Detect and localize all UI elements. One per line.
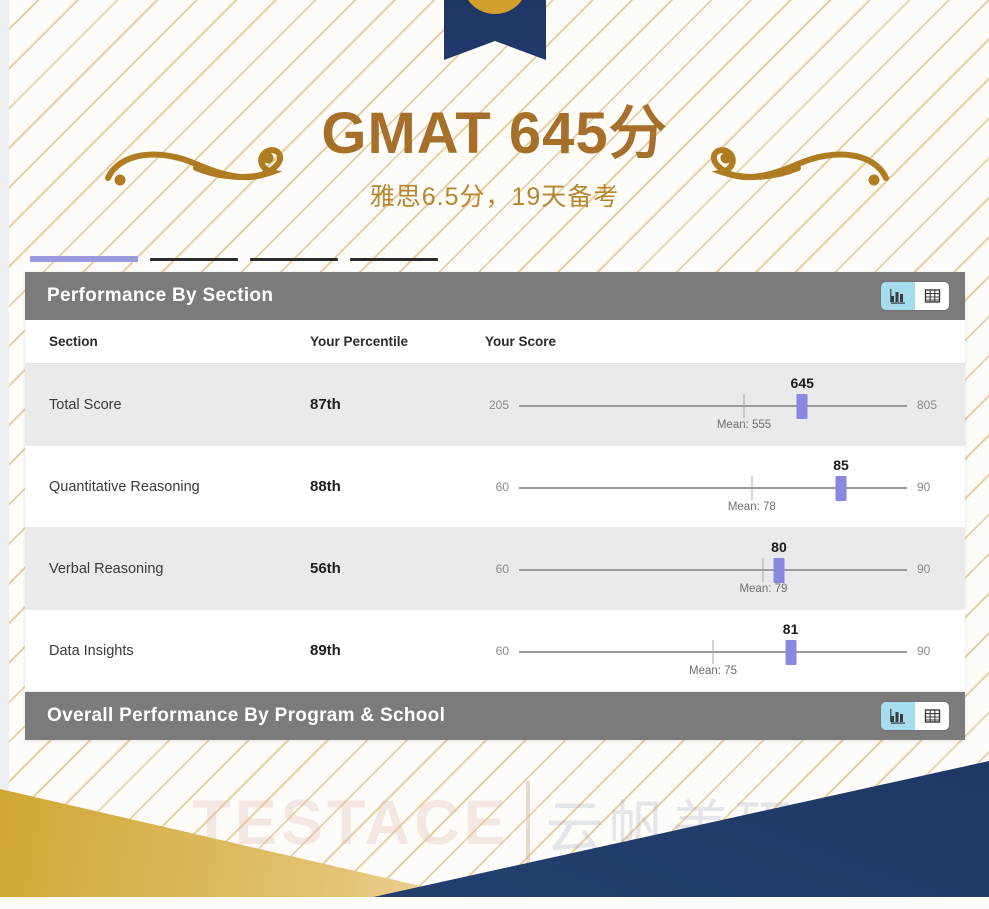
score-marker [773, 558, 784, 583]
score-slider: 205 Mean: 555 645 805 [485, 364, 965, 445]
mean-label: Mean: 78 [728, 501, 776, 513]
performance-by-section-header: Performance By Section [25, 272, 965, 320]
slider-track-box: Mean: 78 85 [519, 460, 907, 514]
axis-max-label: 90 [907, 562, 941, 576]
score-value: 85 [833, 457, 849, 473]
mean-label: Mean: 79 [739, 583, 787, 595]
slider-track-box: Mean: 555 645 [519, 378, 907, 432]
table-row: Verbal Reasoning 56th 60 Mean: 79 80 90 [25, 528, 965, 610]
table-column-headers: Section Your Percentile Your Score [25, 320, 965, 364]
tab-indicator-3[interactable] [250, 258, 338, 261]
column-header-percentile: Your Percentile [310, 334, 485, 349]
slider-track [519, 405, 907, 407]
mean-tick [713, 640, 714, 664]
mean-label: Mean: 75 [689, 665, 737, 677]
slider-track-box: Mean: 75 81 [519, 624, 907, 678]
table-row: Quantitative Reasoning 88th 60 Mean: 78 … [25, 446, 965, 528]
slider-track-box: Mean: 79 80 [519, 542, 907, 596]
table-view-icon[interactable] [915, 702, 949, 730]
table-row: Total Score 87th 205 Mean: 555 645 805 [25, 364, 965, 446]
mean-label: Mean: 555 [717, 419, 771, 431]
tab-strip[interactable] [30, 256, 438, 262]
mean-tick [763, 558, 764, 582]
row-section-name: Verbal Reasoning [25, 561, 310, 577]
overall-performance-title: Overall Performance By Program & School [47, 705, 881, 727]
performance-by-section-title: Performance By Section [47, 285, 881, 307]
table-view-icon[interactable] [915, 282, 949, 310]
row-percentile: 88th [310, 478, 485, 495]
bottom-decoration [0, 754, 989, 909]
tab-indicator-4[interactable] [350, 258, 438, 261]
axis-min-label: 60 [485, 644, 519, 658]
row-section-name: Data Insights [25, 643, 310, 659]
score-slider: 60 Mean: 78 85 90 [485, 446, 965, 527]
score-marker [797, 394, 808, 419]
axis-min-label: 60 [485, 480, 519, 494]
column-header-score: Your Score [485, 334, 965, 349]
score-value: 80 [771, 539, 787, 555]
section-scores-table: TESTACE 云帆美研 Section Your Percentile You… [25, 320, 965, 692]
row-section-name: Quantitative Reasoning [25, 479, 310, 495]
table-row: Data Insights 89th 60 Mean: 75 81 90 [25, 610, 965, 692]
deco-base-strip [0, 897, 989, 909]
column-header-section: Section [25, 334, 310, 349]
score-slider: 60 Mean: 79 80 90 [485, 528, 965, 609]
score-report-card: Performance By Section [25, 272, 965, 740]
score-value: 645 [791, 375, 814, 391]
ornament-flourish-left [100, 138, 300, 202]
chart-view-icon[interactable] [881, 702, 915, 730]
score-marker [836, 476, 847, 501]
axis-min-label: 205 [485, 398, 519, 412]
ornament-flourish-right [694, 138, 894, 202]
tab-indicator-2[interactable] [150, 258, 238, 261]
row-percentile: 87th [310, 396, 485, 413]
overall-performance-header: Overall Performance By Program & School [25, 692, 965, 740]
axis-max-label: 805 [907, 398, 941, 412]
chart-view-icon[interactable] [881, 282, 915, 310]
axis-max-label: 90 [907, 644, 941, 658]
score-slider: 60 Mean: 75 81 90 [485, 610, 965, 691]
program-view-toggle[interactable] [881, 702, 949, 730]
tab-indicator-1[interactable] [30, 256, 138, 262]
section-view-toggle[interactable] [881, 282, 949, 310]
row-percentile: 56th [310, 560, 485, 577]
slider-track [519, 569, 907, 571]
mean-tick [751, 476, 752, 500]
axis-max-label: 90 [907, 480, 941, 494]
row-percentile: 89th [310, 642, 485, 659]
slider-track [519, 487, 907, 489]
score-value: 81 [783, 621, 799, 637]
row-section-name: Total Score [25, 397, 310, 413]
axis-min-label: 60 [485, 562, 519, 576]
score-marker [785, 640, 796, 665]
mean-tick [744, 394, 745, 418]
